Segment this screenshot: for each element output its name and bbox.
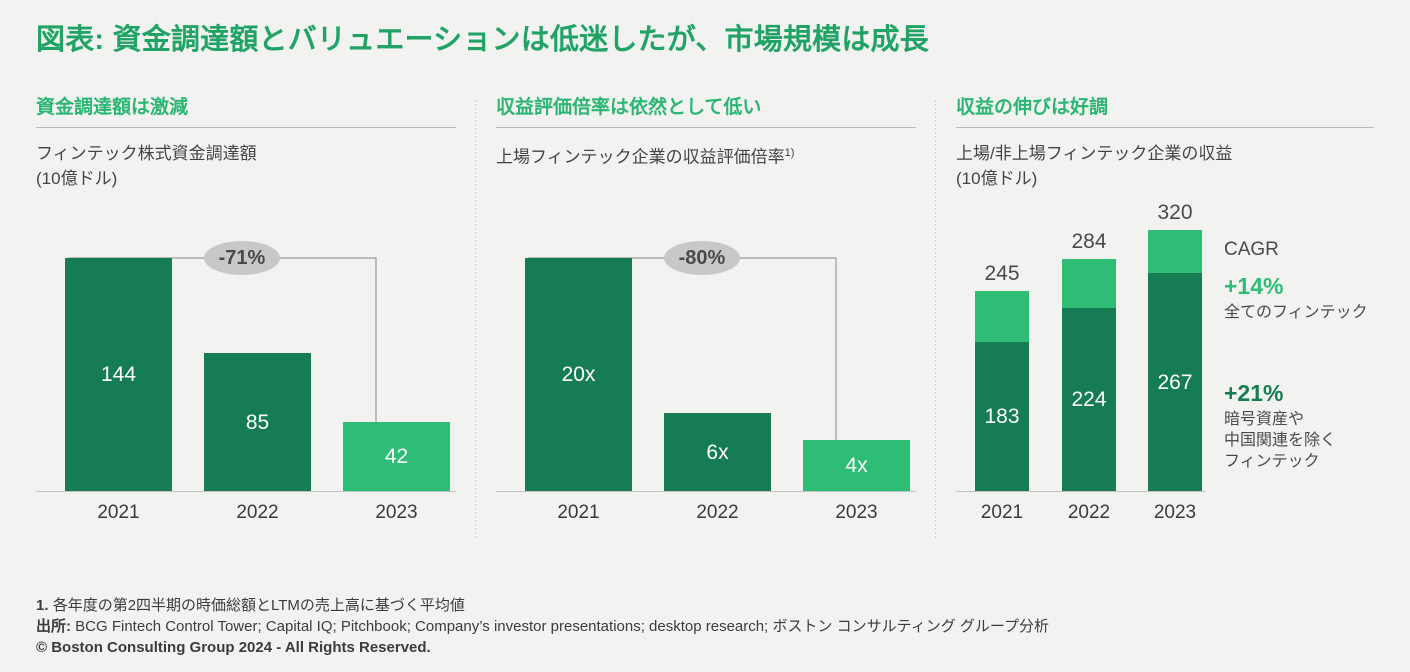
bar-value-funding-2023: 42 <box>385 446 408 467</box>
chart-3-axis <box>956 491 1206 492</box>
bar-value-funding-2021: 144 <box>101 364 136 385</box>
chart-funding: -71% 144 2021 85 2022 42 2023 <box>36 232 456 532</box>
panel-funding-header: 資金調達額は激減 フィンテック株式資金調達額 (10億ドル) <box>36 96 456 191</box>
bar-revenue-2021[interactable]: 183 <box>975 291 1029 491</box>
cagr-desc-ex-crypto-china: 暗号資産や 中国関連を除く フィンテック <box>1224 409 1394 472</box>
bar-funding-2021[interactable]: 144 <box>65 258 172 491</box>
panel-2-heading: 収益評価倍率は依然として低い <box>496 96 916 120</box>
source-label: 出所: <box>36 618 71 635</box>
panel-2-rule <box>496 127 916 128</box>
cagr-desc-all-fintech: 全てのフィンテック <box>1224 302 1394 323</box>
panel-2-footnote-marker: 1) <box>785 147 795 159</box>
cagr-pct-ex-crypto-china: +21% <box>1224 379 1394 407</box>
bar-multiples-2021[interactable]: 20x <box>525 258 632 491</box>
bar-multiples-2023[interactable]: 4x <box>803 440 910 491</box>
x-label-funding-2022: 2022 <box>204 502 311 524</box>
copyright-text: © Boston Consulting Group 2024 - All Rig… <box>36 639 431 656</box>
x-label-revenue-2022: 2022 <box>1055 502 1123 524</box>
panel-3-heading: 収益の伸びは好調 <box>956 96 1374 120</box>
bar-value-revenue-2021: 183 <box>984 406 1019 427</box>
panel-1-heading: 資金調達額は激減 <box>36 96 456 120</box>
cagr-entry-ex-crypto-china: +21% 暗号資産や 中国関連を除く フィンテック <box>1224 379 1394 472</box>
delta-badge-multiples: -80% <box>664 241 740 275</box>
bar-value-revenue-2023: 267 <box>1157 372 1192 393</box>
bar-value-multiples-2022: 6x <box>706 442 728 463</box>
bar-value-funding-2022: 85 <box>246 412 269 433</box>
panel-3-rule <box>956 127 1374 128</box>
bar-total-revenue-2021: 245 <box>975 262 1029 286</box>
footer: 1. 各年度の第2四半期の時価総額とLTMの売上高に基づく平均値 出所: BCG… <box>36 595 1386 658</box>
panel-divider-1 <box>475 100 476 540</box>
cagr-desc-all-fintech-line1: 全てのフィンテック <box>1224 304 1368 321</box>
panel-revenue-header: 収益の伸びは好調 上場/非上場フィンテック企業の収益 (10億ドル) <box>956 96 1374 191</box>
x-label-revenue-2021: 2021 <box>968 502 1036 524</box>
x-label-funding-2023: 2023 <box>343 502 450 524</box>
chart-multiples: -80% 20x 2021 6x 2022 4x 2023 <box>496 232 916 532</box>
cagr-desc-ex-crypto-china-line1: 暗号資産や <box>1224 411 1304 428</box>
footnote-number: 1. <box>36 597 49 614</box>
source-line: 出所: BCG Fintech Control Tower; Capital I… <box>36 616 1386 637</box>
cagr-entry-all-fintech: +14% 全てのフィンテック <box>1224 272 1394 323</box>
chart-2-axis <box>496 491 916 492</box>
bar-total-revenue-2023: 320 <box>1148 201 1202 225</box>
panel-1-subtitle: フィンテック株式資金調達額 (10億ドル) <box>36 141 456 191</box>
x-label-multiples-2021: 2021 <box>525 502 632 524</box>
bar-multiples-2022[interactable]: 6x <box>664 413 771 491</box>
panel-2-subtitle: 上場フィンテック企業の収益評価倍率1) <box>496 141 916 170</box>
footnote-text: 各年度の第2四半期の時価総額とLTMの売上高に基づく平均値 <box>53 597 465 614</box>
x-label-multiples-2022: 2022 <box>664 502 771 524</box>
cagr-legend: CAGR +14% 全てのフィンテック +21% 暗号資産や 中国関連を除く フ… <box>1224 238 1394 472</box>
bar-revenue-2022[interactable]: 224 <box>1062 259 1116 491</box>
cagr-title: CAGR <box>1224 238 1394 262</box>
bar-total-revenue-2022: 284 <box>1062 230 1116 254</box>
delta-badge-funding: -71% <box>204 241 280 275</box>
cagr-desc-ex-crypto-china-line2: 中国関連を除く <box>1224 432 1336 449</box>
panel-3-subtitle: 上場/非上場フィンテック企業の収益 (10億ドル) <box>956 141 1374 191</box>
source-text: BCG Fintech Control Tower; Capital IQ; P… <box>75 618 1049 635</box>
bar-value-revenue-2022: 224 <box>1071 389 1106 410</box>
bar-value-multiples-2021: 20x <box>562 364 596 385</box>
panel-3-subtitle-line1: 上場/非上場フィンテック企業の収益 <box>956 144 1232 163</box>
panel-1-rule <box>36 127 456 128</box>
page-title: 図表: 資金調達額とバリュエーションは低迷したが、市場規模は成長 <box>36 16 929 58</box>
x-label-funding-2021: 2021 <box>65 502 172 524</box>
bar-revenue-2023[interactable]: 267 <box>1148 230 1202 491</box>
chart-1-axis <box>36 491 456 492</box>
x-label-revenue-2023: 2023 <box>1141 502 1209 524</box>
panel-multiples-header: 収益評価倍率は依然として低い 上場フィンテック企業の収益評価倍率1) <box>496 96 916 170</box>
panel-1-subtitle-line1: フィンテック株式資金調達額 <box>36 144 257 163</box>
panel-1-subtitle-line2: (10億ドル) <box>36 169 117 188</box>
bar-funding-2023[interactable]: 42 <box>343 422 450 491</box>
footnote-line: 1. 各年度の第2四半期の時価総額とLTMの売上高に基づく平均値 <box>36 595 1386 616</box>
panel-2-subtitle-line1: 上場フィンテック企業の収益評価倍率 <box>496 148 785 167</box>
copyright-line: © Boston Consulting Group 2024 - All Rig… <box>36 637 1386 658</box>
chart-revenue: 183 245 2021 224 284 2022 267 320 2023 <box>956 232 1206 532</box>
bar-funding-2022[interactable]: 85 <box>204 353 311 491</box>
cagr-desc-ex-crypto-china-line3: フィンテック <box>1224 453 1320 470</box>
bar-value-multiples-2023: 4x <box>845 455 867 476</box>
cagr-pct-all-fintech: +14% <box>1224 272 1394 300</box>
panel-divider-2 <box>935 100 936 540</box>
panel-3-subtitle-line2: (10億ドル) <box>956 169 1037 188</box>
x-label-multiples-2023: 2023 <box>803 502 910 524</box>
